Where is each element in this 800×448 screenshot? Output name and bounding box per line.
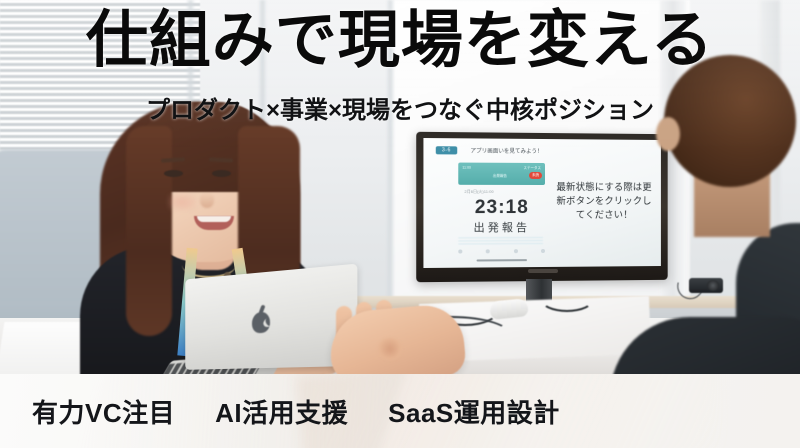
monitor-screen: 3-6 アプリ画面いを見てみよう！ 11:00 ステータス 出発報告 未読 2月… (423, 138, 660, 268)
cheek-blush (168, 194, 196, 210)
screen-time-value: 23:18 (448, 197, 555, 219)
screen-home-indicator (477, 259, 527, 261)
slide-canvas: 3-6 アプリ画面いを見てみよう！ 11:00 ステータス 出発報告 未読 2月… (0, 0, 800, 448)
knuckle (378, 338, 402, 360)
bottom-banner: 有力VC注目 AI活用支援 SaaS運用設計 (0, 374, 800, 448)
screen-step-tag: 3-6 (436, 146, 457, 154)
screen-time-label: 出発報告 (448, 219, 555, 235)
monitor-brand-logo (528, 269, 558, 273)
screen-status-card: 11:00 ステータス 出発報告 未読 (458, 163, 545, 185)
screen-headline: アプリ画面いを見てみよう！ (470, 146, 542, 155)
screen-card-left-label: 11:00 (462, 166, 471, 170)
desk-cable (540, 286, 594, 312)
screen-card-right-label: ステータス (523, 166, 541, 171)
banner-items: 有力VC注目 AI活用支援 SaaS運用設計 (32, 374, 560, 448)
screen-waveform (458, 237, 543, 245)
eye-right (212, 170, 231, 177)
page-subtitle: プロダクト×事業×現場をつなぐ中核ポジション (0, 90, 800, 125)
desktop-display: 3-6 アプリ画面いを見てみよう！ 11:00 ステータス 出発報告 未読 2月… (418, 133, 670, 281)
banner-item-ai: AI活用支援 (215, 393, 348, 430)
screen-caption: 2月6日(火)11:00 (464, 189, 493, 195)
screen-card-badge: 未読 (529, 172, 542, 179)
screen-step-dots (458, 249, 545, 254)
page-title: 仕組みで現場を変える (0, 8, 800, 75)
banner-item-vc: 有力VC注目 (32, 393, 175, 430)
eye-left (164, 170, 183, 177)
teeth (197, 216, 231, 222)
screen-card-center-label: 出発報告 (493, 174, 507, 179)
nose (200, 192, 214, 208)
banner-item-saas: SaaS運用設計 (388, 393, 560, 430)
